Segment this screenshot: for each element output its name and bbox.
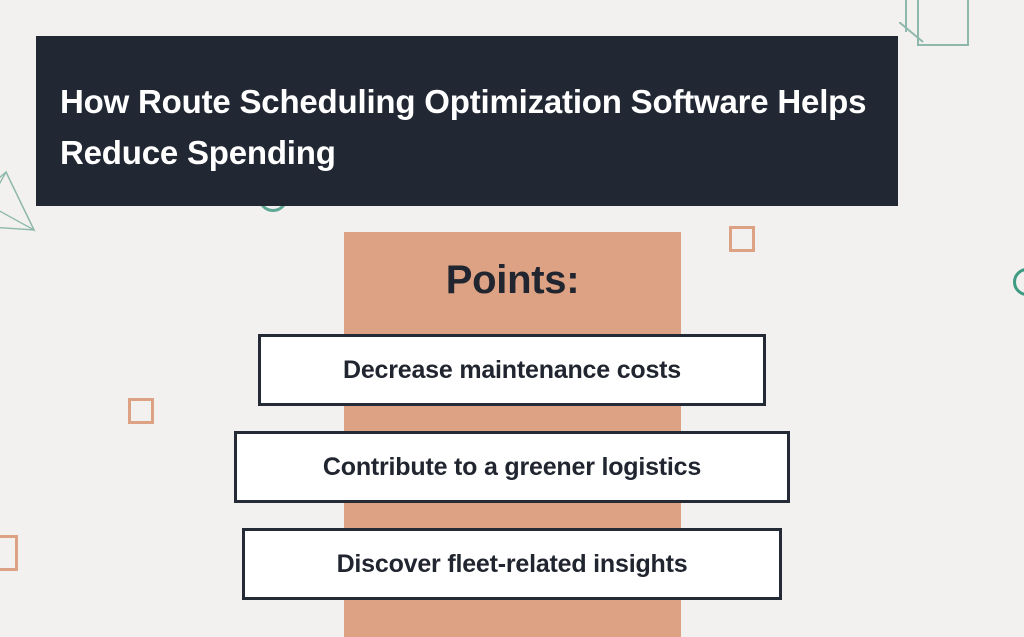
square-teal-icon	[917, 0, 969, 46]
points-heading: Points:	[344, 258, 681, 303]
point-box: Decrease maintenance costs	[258, 334, 766, 406]
point-label: Contribute to a greener logistics	[323, 453, 701, 482]
point-label: Discover fleet-related insights	[337, 550, 688, 579]
page-title: How Route Scheduling Optimization Softwa…	[60, 76, 880, 178]
square-fold-icon	[905, 0, 955, 32]
fold-diagonal-icon	[899, 22, 925, 44]
square-orange-icon-edge	[0, 535, 18, 571]
slide-canvas: Points: How Route Scheduling Optimizatio…	[0, 0, 1024, 637]
point-box: Discover fleet-related insights	[242, 528, 782, 600]
square-orange-icon-left	[128, 398, 154, 424]
title-banner: How Route Scheduling Optimization Softwa…	[36, 36, 898, 206]
point-label: Decrease maintenance costs	[343, 356, 681, 385]
point-box: Contribute to a greener logistics	[234, 431, 790, 503]
circle-teal-icon-right	[1013, 268, 1024, 296]
square-orange-icon-right	[729, 226, 755, 252]
